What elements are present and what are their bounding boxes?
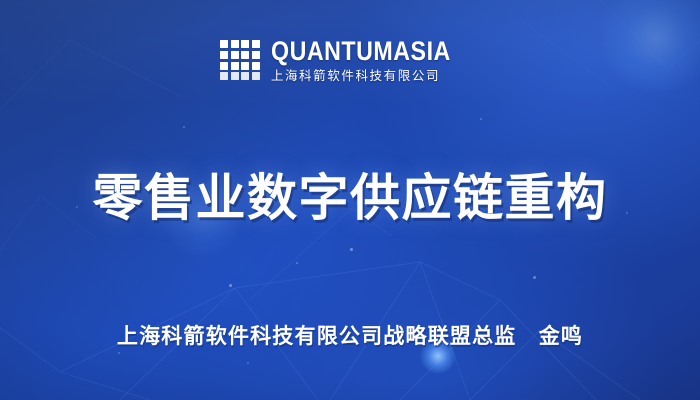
presentation-title-slide: QUANTUMASIA 上海科箭软件科技有限公司 零售业数字供应链重构 上海科箭… <box>0 0 700 400</box>
background-particle <box>247 362 249 364</box>
background-particle <box>183 126 185 128</box>
background-particle <box>533 276 536 279</box>
brand-logo-text: QUANTUMASIA 上海科箭软件科技有限公司 <box>271 38 480 83</box>
quantumasia-grid-logo-icon <box>220 40 260 80</box>
brand-company-name-cn: 上海科箭软件科技有限公司 <box>271 70 440 83</box>
slide-headline: 零售业数字供应链重构 <box>0 158 700 230</box>
brand-logo-lockup: QUANTUMASIA 上海科箭软件科技有限公司 <box>0 38 700 83</box>
presenter-credit: 上海科箭软件科技有限公司战略联盟总监 金鸣 <box>0 320 700 350</box>
brand-wordmark: QUANTUMASIA <box>271 38 451 65</box>
background-particle <box>229 284 232 287</box>
background-particle <box>480 118 482 120</box>
background-particle <box>350 248 353 251</box>
background-particle <box>118 352 120 354</box>
background-particle <box>296 262 298 264</box>
